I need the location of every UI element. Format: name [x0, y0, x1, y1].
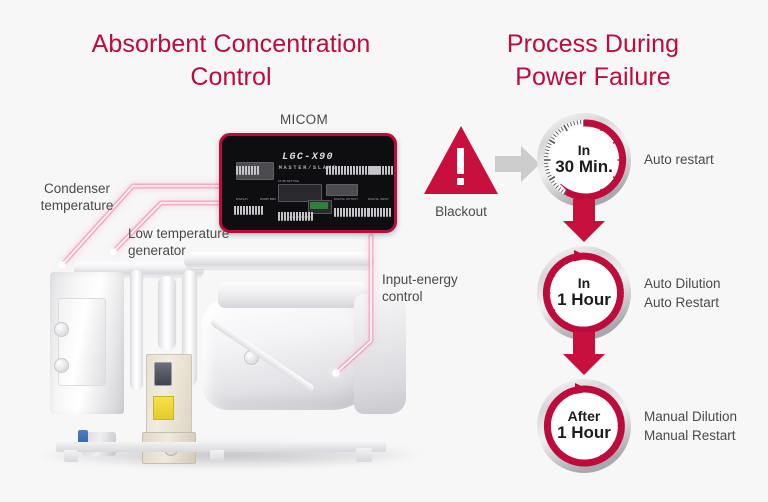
exclamation-bar-icon: [457, 148, 464, 174]
gauge-caption-3-line1: Manual Dilution: [644, 407, 737, 426]
blackout-indicator: Blackout: [418, 126, 504, 236]
exclamation-dot-icon: [457, 178, 464, 185]
callout-input-line2: control: [382, 288, 492, 305]
callout-label-input-energy-control: Input-energy control: [382, 271, 492, 306]
base-foot-right: [356, 448, 372, 462]
down-arrow-icon-2: [562, 332, 606, 376]
pipe-riser-b: [158, 276, 176, 350]
pin-label-at88: AT-88 SETTING: [278, 180, 299, 183]
down-arrow-icon-1: [562, 199, 606, 243]
pin-header-display: [236, 166, 259, 175]
gauge-caption-2: Auto Dilution Auto Restart: [644, 245, 721, 341]
flange-upper: [54, 322, 69, 337]
base-foot-mid: [210, 450, 224, 462]
right-arrow-icon: [495, 144, 541, 184]
micom-controller-board: LGC-X90 MASTER/SLAVE AT-88 SETTING DISPL…: [219, 133, 397, 233]
pin-header-digital-in: [368, 208, 391, 217]
generator-access-panel: [58, 298, 106, 386]
chip-io: [326, 184, 358, 196]
gauge-clock-icon-1: [536, 112, 632, 208]
gauge-clock-icon-2: [536, 245, 632, 341]
gauge-caption-2-line1: Auto Dilution: [644, 274, 721, 293]
page-title-right: Process During Power Failure: [462, 28, 724, 94]
gauge-clock-icon-3: [536, 378, 632, 474]
pin-label-display: DISPLAY: [236, 198, 248, 201]
pin-label-digital-out: DIGITAL OUTPUT: [334, 198, 358, 201]
gauge-caption-3: Manual Dilution Manual Restart: [644, 378, 737, 474]
callout-input-line1: Input-energy: [382, 271, 492, 288]
pipe-riser-a: [130, 270, 143, 390]
drum-end-cap: [354, 294, 406, 414]
absorption-chiller-image: [34, 246, 426, 464]
page-title-right-line1: Process During: [462, 28, 724, 61]
pin-header-analog-in: [278, 212, 313, 221]
callout-lowtemp-line2: generator: [128, 242, 250, 259]
gauge-caption-2-line2: Auto Restart: [644, 293, 721, 312]
page-title-left: Absorbent Concentration Control: [28, 28, 434, 94]
cabinet-display: [154, 362, 172, 386]
callout-lowtemp-line1: Low temperature: [128, 225, 250, 242]
pin-header-far-right: [370, 166, 393, 175]
blackout-label: Blackout: [418, 204, 504, 219]
status-led-strip: [310, 202, 328, 209]
gauge-caption-1-line1: Auto restart: [644, 150, 714, 169]
cabinet-warning-plate: [153, 396, 174, 420]
infographic-canvas: Absorbent Concentration Control Process …: [0, 0, 768, 502]
pin-label-rs485: RS485 BMS: [260, 198, 276, 201]
pin-header-digital-out: [334, 208, 369, 217]
page-title-left-line1: Absorbent Concentration: [28, 28, 434, 61]
callout-label-low-temperature-generator: Low temperature generator: [128, 225, 250, 260]
flange-lower: [54, 358, 69, 373]
callout-condenser-line2: temperature: [22, 197, 132, 214]
pin-label-digital-in: DIGITAL INPUT: [368, 198, 389, 201]
pin-header-bottom-left: [234, 206, 263, 215]
absorber-drum: [202, 298, 378, 410]
gauge-caption-3-line2: Manual Restart: [644, 426, 737, 445]
callout-label-condenser: Condenser temperature: [22, 180, 132, 215]
micom-label: MICOM: [252, 112, 356, 127]
callout-condenser-line1: Condenser: [22, 180, 132, 197]
gauge-caption-1: Auto restart: [644, 112, 714, 208]
base-foot-left: [64, 450, 78, 462]
page-title-right-line2: Power Failure: [462, 61, 724, 94]
page-title-left-line2: Control: [28, 61, 434, 94]
drum-top-housing: [218, 282, 368, 308]
